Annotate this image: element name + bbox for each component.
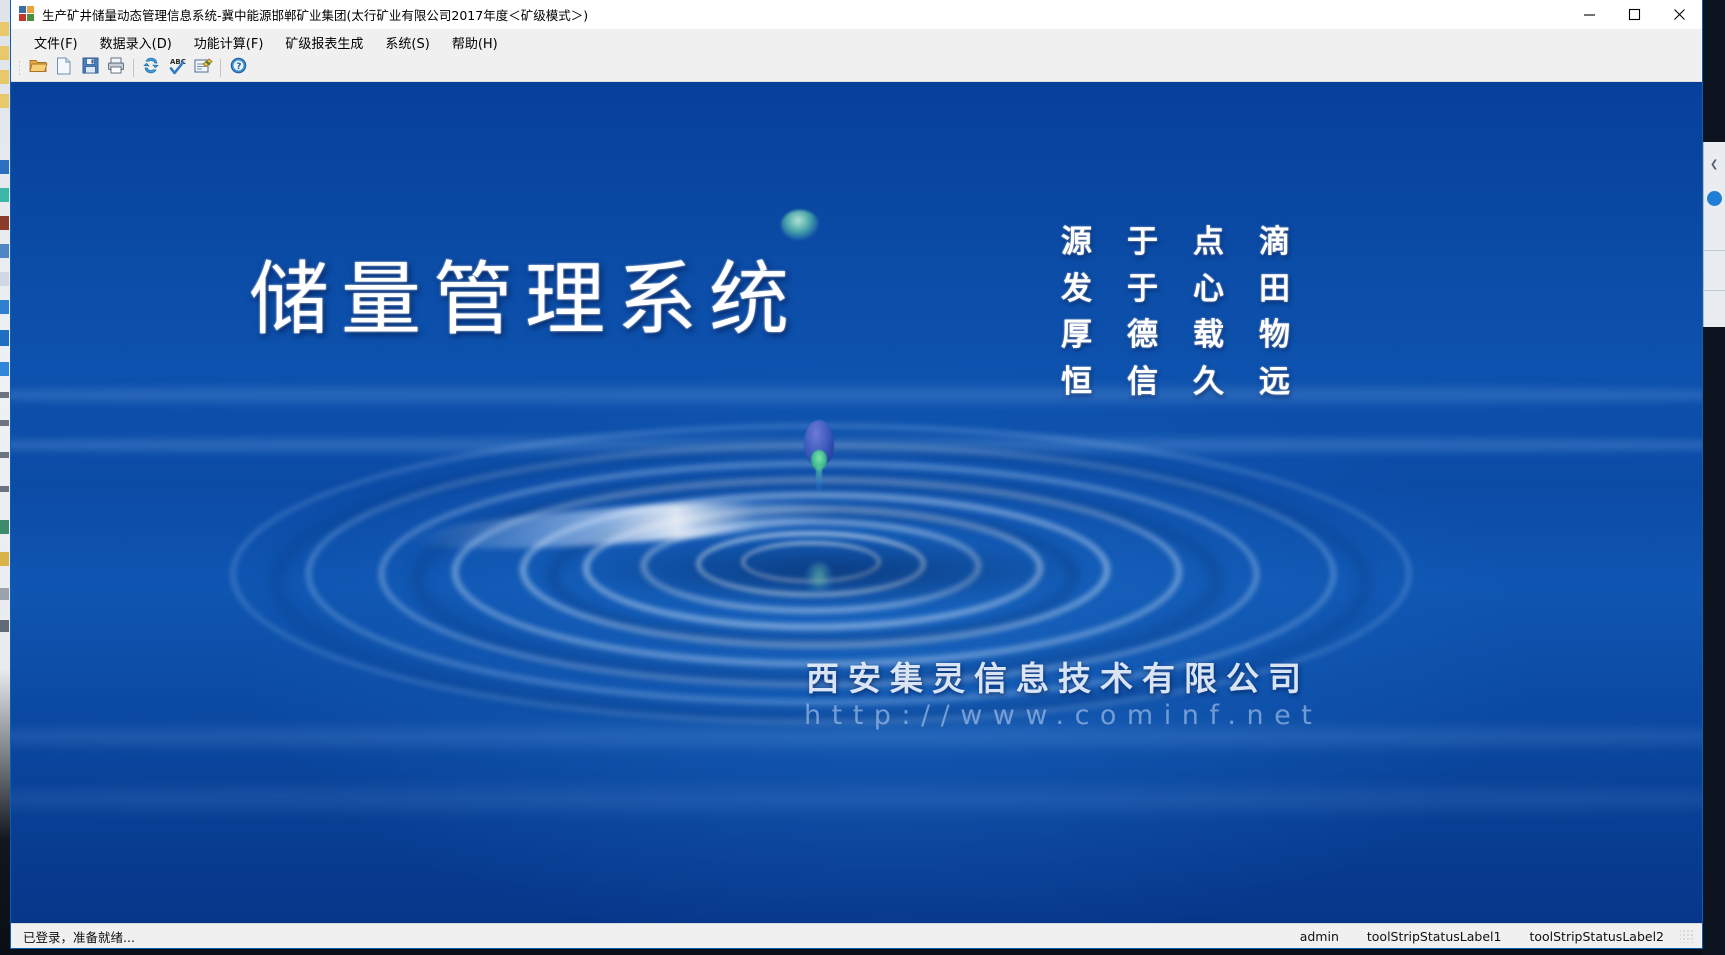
desktop-icon <box>0 244 9 258</box>
save-floppy-icon <box>82 57 99 79</box>
printer-icon <box>107 57 125 79</box>
menu-mine-report[interactable]: 矿级报表生成 <box>274 29 374 56</box>
maximize-button[interactable] <box>1612 0 1657 29</box>
ripple-band <box>11 434 1702 456</box>
window-controls <box>1567 0 1702 29</box>
status-right-group: admin toolStripStatusLabel1 toolStripSta… <box>1286 929 1702 944</box>
print-button[interactable] <box>103 56 129 80</box>
desktop-icon <box>0 486 9 492</box>
toolbar-separator <box>220 59 221 77</box>
splash-title: 储量管理系统 <box>249 260 801 340</box>
desktop-icon <box>0 552 9 566</box>
open-button[interactable] <box>25 56 51 80</box>
desktop-icon <box>0 272 9 286</box>
ripple-band <box>11 382 1702 408</box>
desktop-panel-dot-icon <box>1707 191 1722 206</box>
splash-area: 储量管理系统 源于点滴 发于心田 厚德载物 恒信久远 西安集灵信息技术有限公司 … <box>11 82 1702 923</box>
properties-icon <box>194 57 213 79</box>
status-message: 已登录，准备就绪... <box>11 927 135 946</box>
poem-line-2: 发于心田 <box>1061 271 1325 308</box>
menu-bar: 文件(F) 数据录入(D) 功能计算(F) 矿级报表生成 系统(S) 帮助(H) <box>11 29 1702 55</box>
menu-data-entry[interactable]: 数据录入(D) <box>89 29 183 56</box>
desktop-icon <box>0 160 9 174</box>
tool-bar: ABC <box>11 55 1702 82</box>
help-circle-icon: ? <box>230 57 247 79</box>
new-document-icon <box>56 57 72 80</box>
app-tiles-icon <box>19 6 35 22</box>
company-url: http://www.cominf.net <box>804 700 1322 731</box>
properties-button[interactable] <box>190 56 216 80</box>
splash-poem: 源于点滴 发于心田 厚德载物 恒信久远 <box>1061 224 1325 400</box>
desktop-icon <box>0 420 9 426</box>
desktop-icon <box>0 588 9 600</box>
svg-text:?: ? <box>236 62 241 72</box>
desktop-left-edge <box>0 0 10 955</box>
spellcheck-button[interactable]: ABC <box>164 56 190 80</box>
desktop-icon <box>0 520 9 534</box>
refresh-icon <box>142 57 160 79</box>
application-window: 生产矿井储量动态管理信息系统-冀中能源邯郸矿业集团(太行矿业有限公司2017年度… <box>10 0 1703 949</box>
poem-line-1: 源于点滴 <box>1061 224 1325 261</box>
minimize-button[interactable] <box>1567 0 1612 29</box>
status-bar: 已登录，准备就绪... admin toolStripStatusLabel1 … <box>11 923 1702 948</box>
window-title: 生产矿井储量动态管理信息系统-冀中能源邯郸矿业集团(太行矿业有限公司2017年度… <box>42 5 588 24</box>
status-label-2: toolStripStatusLabel2 <box>1515 929 1678 944</box>
desktop-icon <box>0 362 9 376</box>
close-button[interactable] <box>1657 0 1702 29</box>
menu-file[interactable]: 文件(F) <box>23 29 89 56</box>
desktop-icon <box>0 46 9 60</box>
desktop-right-edge: ❮ <box>1703 0 1725 955</box>
folder-open-icon <box>29 57 48 79</box>
resize-grip[interactable] <box>1680 929 1694 943</box>
desktop-icon <box>0 188 9 202</box>
title-bar: 生产矿井储量动态管理信息系统-冀中能源邯郸矿业集团(太行矿业有限公司2017年度… <box>11 0 1702 29</box>
menu-help[interactable]: 帮助(H) <box>441 29 509 56</box>
desktop-icon <box>0 70 9 84</box>
new-button[interactable] <box>51 56 77 80</box>
desktop-icon <box>0 452 9 458</box>
water-droplet <box>804 420 834 498</box>
divider <box>1703 250 1725 251</box>
desktop-icon <box>0 300 9 314</box>
desktop-icon <box>0 22 9 36</box>
poem-line-3: 厚德载物 <box>1061 317 1325 354</box>
toolbar-separator <box>133 59 134 77</box>
help-button[interactable]: ? <box>225 56 251 80</box>
menu-system[interactable]: 系统(S) <box>374 29 440 56</box>
desktop-icon <box>0 216 9 230</box>
desktop-icon <box>0 94 9 108</box>
desktop-icon <box>0 330 9 346</box>
poem-line-4: 恒信久远 <box>1061 364 1325 401</box>
ripple-band <box>11 782 1702 816</box>
bubble-icon <box>781 210 819 240</box>
spellcheck-abc-icon: ABC <box>167 57 187 80</box>
save-button[interactable] <box>77 56 103 80</box>
water-ripples <box>11 82 1702 923</box>
refresh-button[interactable] <box>138 56 164 80</box>
toolbar-grip[interactable] <box>17 59 22 77</box>
status-label-1: toolStripStatusLabel1 <box>1353 929 1516 944</box>
chevron-left-icon: ❮ <box>1710 160 1720 170</box>
droplet-reflection <box>804 562 834 596</box>
menu-function-calc[interactable]: 功能计算(F) <box>183 29 275 56</box>
divider <box>1703 290 1725 291</box>
desktop-icon <box>0 620 9 632</box>
status-user: admin <box>1286 929 1353 944</box>
company-name: 西安集灵信息技术有限公司 <box>806 652 1310 700</box>
desktop-icon <box>0 392 9 398</box>
